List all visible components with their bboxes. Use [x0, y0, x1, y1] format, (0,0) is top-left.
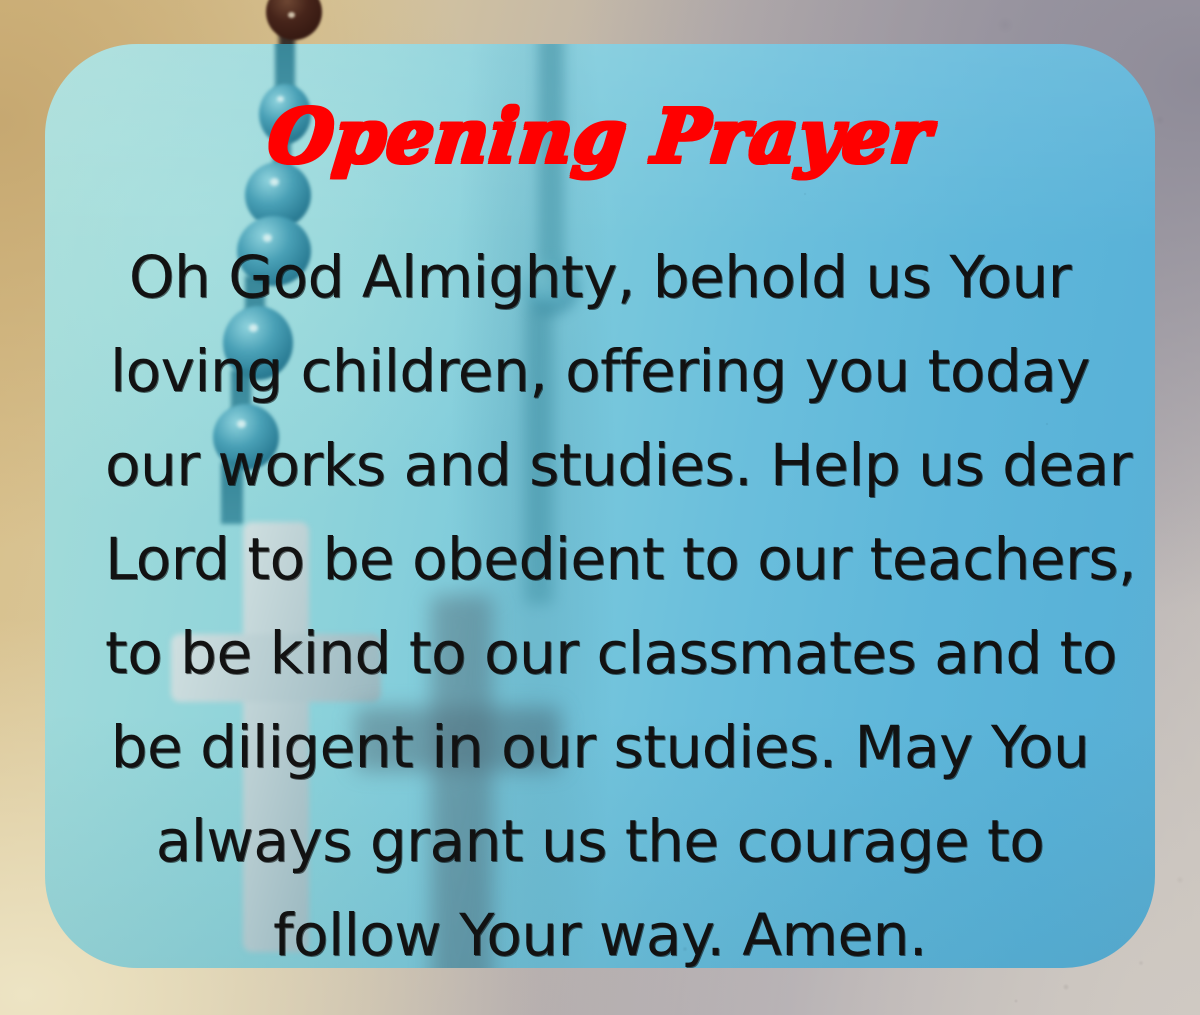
prayer-card-panel: Opening Prayer Oh God Almighty, behold u…: [45, 44, 1155, 968]
prayer-poster: Opening Prayer Oh God Almighty, behold u…: [0, 0, 1200, 1015]
prayer-line: Lord to be obedient to our teachers,: [105, 512, 1095, 606]
prayer-line: to be kind to our classmates and to: [105, 606, 1095, 700]
prayer-line: be diligent in our studies. May You: [105, 700, 1095, 794]
prayer-line: follow Your way. Amen.: [105, 888, 1095, 968]
rosary-bead-highlight: [288, 12, 295, 18]
prayer-line: always grant us the courage to: [105, 794, 1095, 888]
prayer-line: our works and studies. Help us dear: [105, 418, 1095, 512]
prayer-line: Oh God Almighty, behold us Your: [105, 230, 1095, 324]
page-title: Opening Prayer: [45, 100, 1155, 174]
prayer-line: loving children, offering you today: [105, 324, 1095, 418]
prayer-body-text: Oh God Almighty, behold us Your loving c…: [105, 230, 1095, 968]
